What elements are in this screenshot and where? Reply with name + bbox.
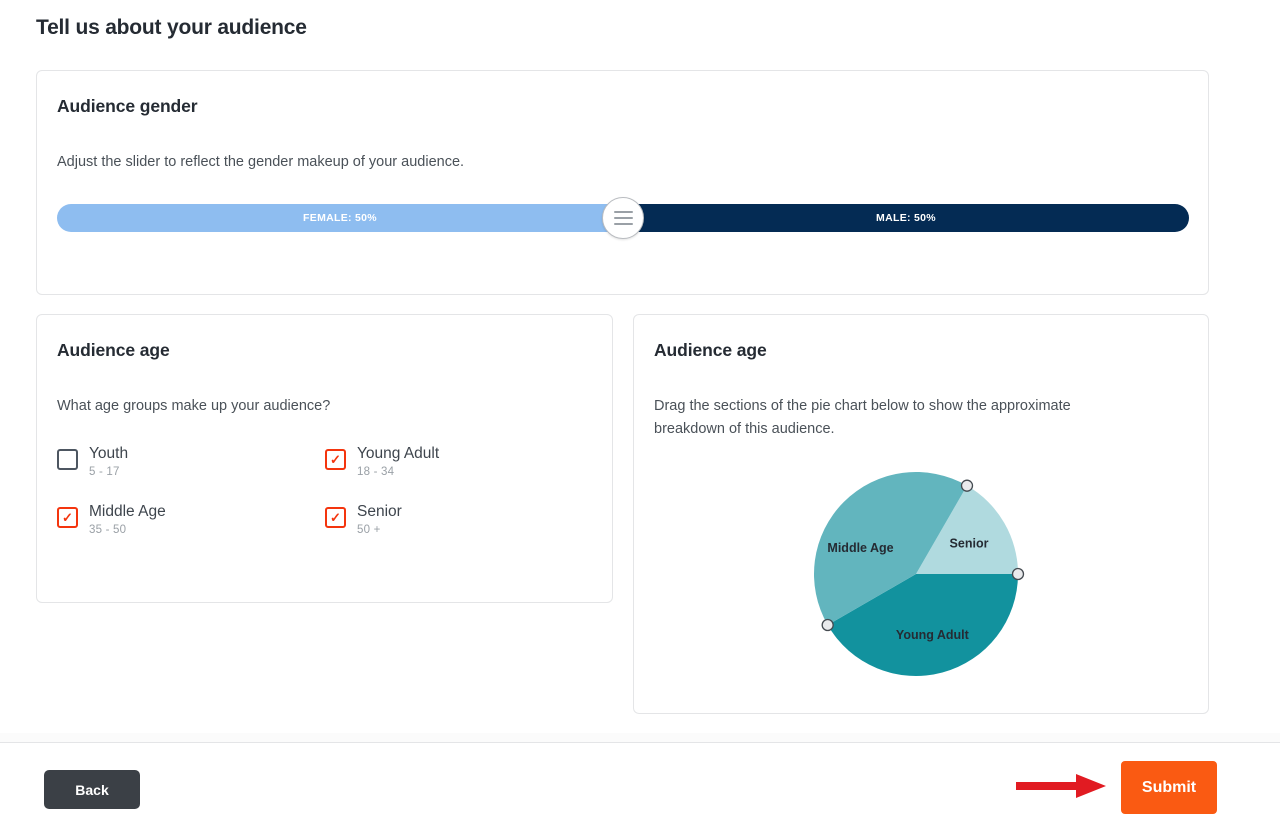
age-option-range: 18 - 34 xyxy=(357,466,439,478)
footer-shade xyxy=(0,733,1280,742)
age-option-label: Senior xyxy=(357,502,402,521)
audience-age-checkbox-card: Audience age What age groups make up you… xyxy=(36,314,613,603)
pie-drag-handle-2[interactable] xyxy=(1013,569,1024,580)
checkbox-unchecked-icon[interactable] xyxy=(57,449,78,470)
audience-survey-page: Tell us about your audience Audience gen… xyxy=(0,0,1280,825)
age-option-texts: Senior50 + xyxy=(357,502,402,536)
audience-age-checkbox-title: Audience age xyxy=(57,340,170,361)
back-button[interactable]: Back xyxy=(44,770,140,809)
age-option-senior[interactable]: Senior50 + xyxy=(325,502,557,536)
pie-drag-handle-3[interactable] xyxy=(822,620,833,631)
grip-line-1 xyxy=(614,211,633,213)
gender-slider-female-label: FEMALE: 50% xyxy=(303,212,377,224)
pie-label-middle-age: Middle Age xyxy=(827,541,893,555)
age-option-range: 35 - 50 xyxy=(89,524,166,536)
pie-label-young-adult: Young Adult xyxy=(896,628,970,642)
gender-slider-female-segment[interactable]: FEMALE: 50% xyxy=(57,204,623,232)
age-option-label: Youth xyxy=(89,444,128,463)
pie-drag-handle-1[interactable] xyxy=(962,480,973,491)
grip-line-3 xyxy=(614,223,633,225)
age-options-group: Youth5 - 17Young Adult18 - 34Middle Age3… xyxy=(57,444,557,536)
age-option-range: 50 + xyxy=(357,524,402,536)
gender-slider-male-label: MALE: 50% xyxy=(876,212,936,224)
audience-gender-card: Audience gender Adjust the slider to ref… xyxy=(36,70,1209,295)
gender-slider-male-segment[interactable]: MALE: 50% xyxy=(623,204,1189,232)
age-option-youth[interactable]: Youth5 - 17 xyxy=(57,444,325,478)
age-option-texts: Young Adult18 - 34 xyxy=(357,444,439,478)
age-option-texts: Youth5 - 17 xyxy=(89,444,128,478)
annotation-arrow-icon xyxy=(1016,771,1108,801)
submit-button[interactable]: Submit xyxy=(1121,761,1217,814)
page-title: Tell us about your audience xyxy=(36,16,307,40)
checkbox-checked-icon[interactable] xyxy=(325,449,346,470)
pie-label-senior: Senior xyxy=(950,536,989,550)
footer-divider xyxy=(0,742,1280,743)
age-option-label: Middle Age xyxy=(89,502,166,521)
age-option-label: Young Adult xyxy=(357,444,439,463)
age-option-young-adult[interactable]: Young Adult18 - 34 xyxy=(325,444,557,478)
age-option-middle-age[interactable]: Middle Age35 - 50 xyxy=(57,502,325,536)
audience-gender-title: Audience gender xyxy=(57,96,197,117)
pie-chart-svg[interactable]: SeniorYoung AdultMiddle Age xyxy=(814,472,1030,688)
audience-age-checkbox-description: What age groups make up your audience? xyxy=(57,395,330,418)
grip-lines-icon[interactable] xyxy=(602,197,644,239)
audience-age-pie-chart[interactable]: SeniorYoung AdultMiddle Age xyxy=(634,315,1210,715)
audience-gender-description: Adjust the slider to reflect the gender … xyxy=(57,151,464,174)
age-option-texts: Middle Age35 - 50 xyxy=(89,502,166,536)
age-option-range: 5 - 17 xyxy=(89,466,128,478)
grip-line-2 xyxy=(614,217,633,219)
checkbox-checked-icon[interactable] xyxy=(325,507,346,528)
checkbox-checked-icon[interactable] xyxy=(57,507,78,528)
audience-age-pie-card: Audience age Drag the sections of the pi… xyxy=(633,314,1209,714)
